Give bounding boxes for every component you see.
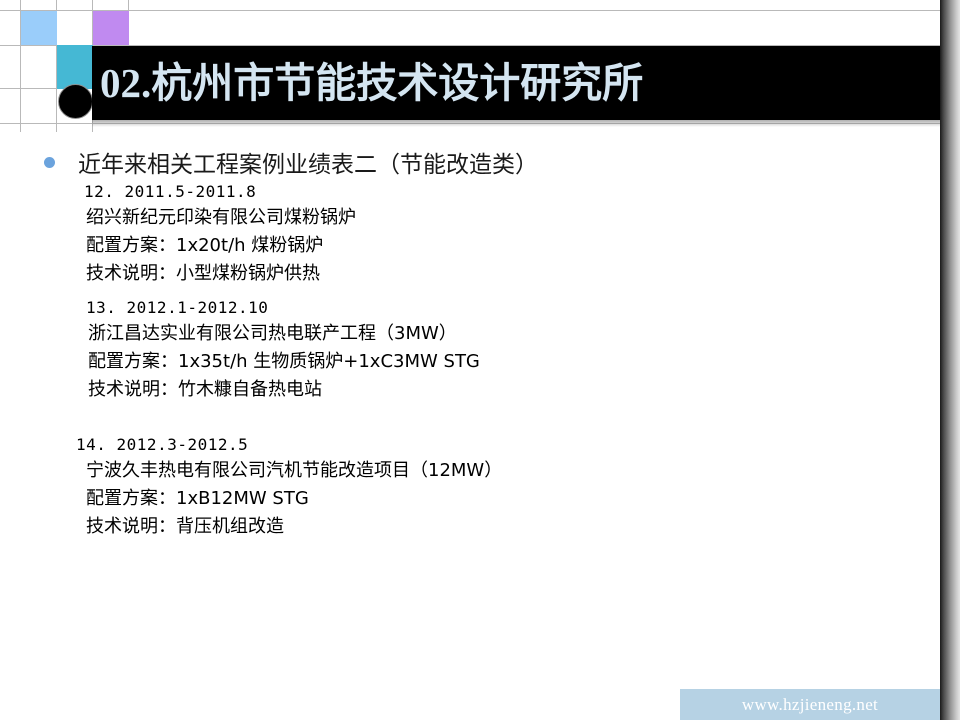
project-entry-tech: 技术说明：小型煤粉锅炉供热 bbox=[84, 260, 356, 288]
footer-watermark-label: www.hzjieneng.net bbox=[680, 689, 940, 720]
project-entry: 14. 2012.3-2012.5 宁波久丰热电有限公司汽机节能改造项目（12M… bbox=[76, 435, 502, 541]
decoration-square-light-blue bbox=[21, 11, 57, 45]
project-entry-number-date: 13. 2012.1-2012.10 bbox=[84, 298, 480, 317]
decoration-square-purple bbox=[93, 11, 129, 45]
page-title: 02.杭州市节能技术设计研究所 bbox=[100, 50, 643, 116]
slide-canvas: 02.杭州市节能技术设计研究所 近年来相关工程案例业绩表二（节能改造类） 12.… bbox=[0, 0, 960, 720]
slide-right-edge-shadow bbox=[940, 0, 960, 720]
footer-watermark-bar: www.hzjieneng.net bbox=[680, 689, 940, 720]
project-entry-config: 配置方案：1x35t/h 生物质锅炉+1xC3MW STG bbox=[84, 348, 480, 376]
project-entry-config: 配置方案：1x20t/h 煤粉锅炉 bbox=[84, 232, 356, 260]
project-entry-company: 绍兴新纪元印染有限公司煤粉锅炉 bbox=[84, 204, 356, 232]
project-entry: 12. 2011.5-2011.8 绍兴新纪元印染有限公司煤粉锅炉 配置方案：1… bbox=[84, 182, 356, 288]
project-entry-tech: 技术说明：竹木糠自备热电站 bbox=[84, 376, 480, 404]
decoration-square-teal bbox=[57, 45, 93, 89]
grid-line-horizontal bbox=[0, 10, 940, 11]
bullet-dot-icon bbox=[44, 157, 55, 168]
project-entry-number-date: 12. 2011.5-2011.8 bbox=[84, 182, 356, 201]
decoration-circle-black bbox=[58, 84, 93, 119]
project-entry-company: 宁波久丰热电有限公司汽机节能改造项目（12MW） bbox=[76, 457, 502, 485]
project-entry-config: 配置方案：1xB12MW STG bbox=[76, 485, 502, 513]
project-entry: 13. 2012.1-2012.10 浙江昌达实业有限公司热电联产工程（3MW）… bbox=[84, 298, 480, 404]
bullet-heading: 近年来相关工程案例业绩表二（节能改造类） bbox=[44, 145, 538, 179]
bullet-heading-label: 近年来相关工程案例业绩表二（节能改造类） bbox=[78, 145, 538, 179]
project-entry-number-date: 14. 2012.3-2012.5 bbox=[76, 435, 502, 454]
project-entry-tech: 技术说明：背压机组改造 bbox=[76, 513, 502, 541]
title-bar-shadow bbox=[92, 120, 940, 127]
project-entry-company: 浙江昌达实业有限公司热电联产工程（3MW） bbox=[84, 320, 480, 348]
